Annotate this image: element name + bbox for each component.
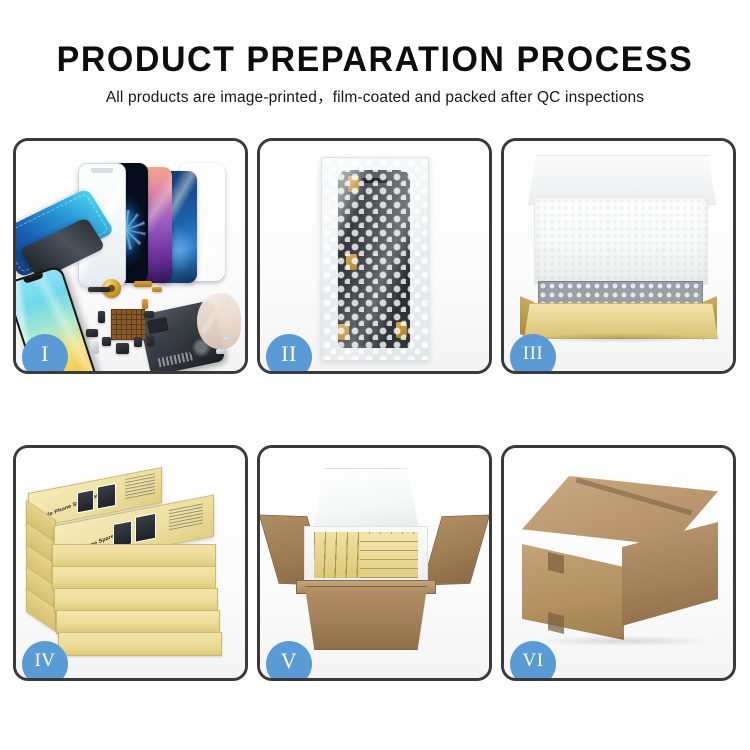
product-preparation-infographic: PRODUCT PREPARATION PROCESS All products… — [0, 0, 750, 750]
screw-part — [224, 337, 231, 341]
step-number-badge: VI — [510, 641, 556, 681]
chip-part — [102, 337, 111, 346]
page-title: PRODUCT PREPARATION PROCESS — [11, 0, 739, 77]
chip-part — [86, 329, 98, 337]
retail-box — [52, 544, 216, 568]
box-product-image — [97, 483, 116, 510]
step-number-badge: III — [510, 334, 556, 374]
box-product-image — [77, 489, 94, 513]
process-step-5[interactable]: V — [257, 445, 492, 681]
foam-sheet — [534, 197, 708, 285]
step-number-badge: V — [266, 641, 312, 681]
carton-tape-mark — [548, 552, 564, 574]
box-spec-text — [169, 502, 203, 531]
flex-cable-part — [152, 287, 162, 292]
chip-part — [88, 287, 110, 292]
carton-left-panel — [522, 544, 624, 640]
chip-part — [98, 311, 105, 323]
carton-flap-right — [422, 515, 489, 586]
technician-hand — [197, 293, 241, 349]
step-number-badge: I — [22, 334, 68, 374]
foam-lid — [312, 468, 420, 534]
retail-box — [56, 610, 220, 634]
screw-part — [216, 349, 226, 354]
carton-tape-mark — [548, 612, 564, 634]
box-product-image — [135, 513, 156, 543]
bubble-wrap-bag — [321, 157, 429, 361]
page-subtitle: All products are image-printed，film-coat… — [0, 77, 750, 106]
chip-part — [116, 343, 129, 354]
box-spec-text — [125, 473, 155, 499]
chip-part — [147, 335, 154, 346]
process-step-3[interactable]: III — [501, 138, 736, 374]
drop-shadow — [528, 333, 712, 343]
process-step-2[interactable]: II — [257, 138, 492, 374]
plastic-sheen — [322, 158, 428, 360]
step-number-badge: IV — [22, 641, 68, 681]
chip-part — [144, 311, 154, 318]
packed-retail-boxes — [360, 534, 418, 578]
flex-cable-part — [142, 299, 148, 309]
process-step-grid: I II — [13, 138, 737, 681]
chip-part — [134, 337, 142, 347]
housing-print — [158, 351, 193, 367]
carton-front-panel — [298, 586, 434, 650]
process-step-1[interactable]: I — [13, 138, 248, 374]
drop-shadow — [534, 636, 714, 646]
metal-bracket-part — [90, 341, 99, 354]
process-step-4[interactable]: Mobile Phone Spare Parts Mobile Phone Sp… — [13, 445, 248, 681]
retail-box — [58, 632, 222, 656]
header: PRODUCT PREPARATION PROCESS All products… — [0, 0, 750, 106]
retail-box — [54, 588, 218, 612]
step-number-badge: II — [266, 334, 312, 374]
pcb-board-part — [111, 309, 145, 340]
process-step-6[interactable]: VI — [501, 445, 736, 681]
flex-cable-part — [134, 281, 152, 287]
retail-box — [52, 566, 216, 590]
